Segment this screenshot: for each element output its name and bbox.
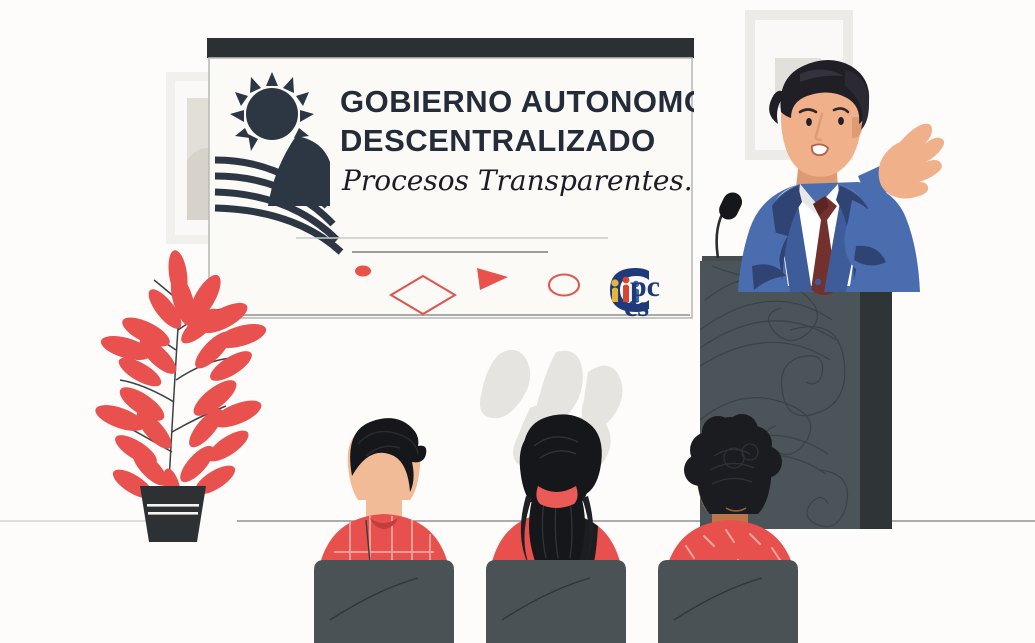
plant-pot [140, 486, 206, 542]
ellipse-filled-shape [355, 266, 371, 277]
screen-tagline: Procesos Transparentes... [341, 164, 710, 197]
projector-screen[interactable]: GOBIERNO AUTONOMO DESCENTRALIZADO Proces… [207, 38, 710, 323]
screen-heading-line2: DESCENTRALIZADO [340, 123, 656, 158]
presentation-scene: GOBIERNO AUTONOMO DESCENTRALIZADO Proces… [0, 0, 1035, 643]
screen-heading-line1: GOBIERNO AUTONOMO [340, 84, 708, 119]
screen-top-bar [207, 38, 694, 58]
